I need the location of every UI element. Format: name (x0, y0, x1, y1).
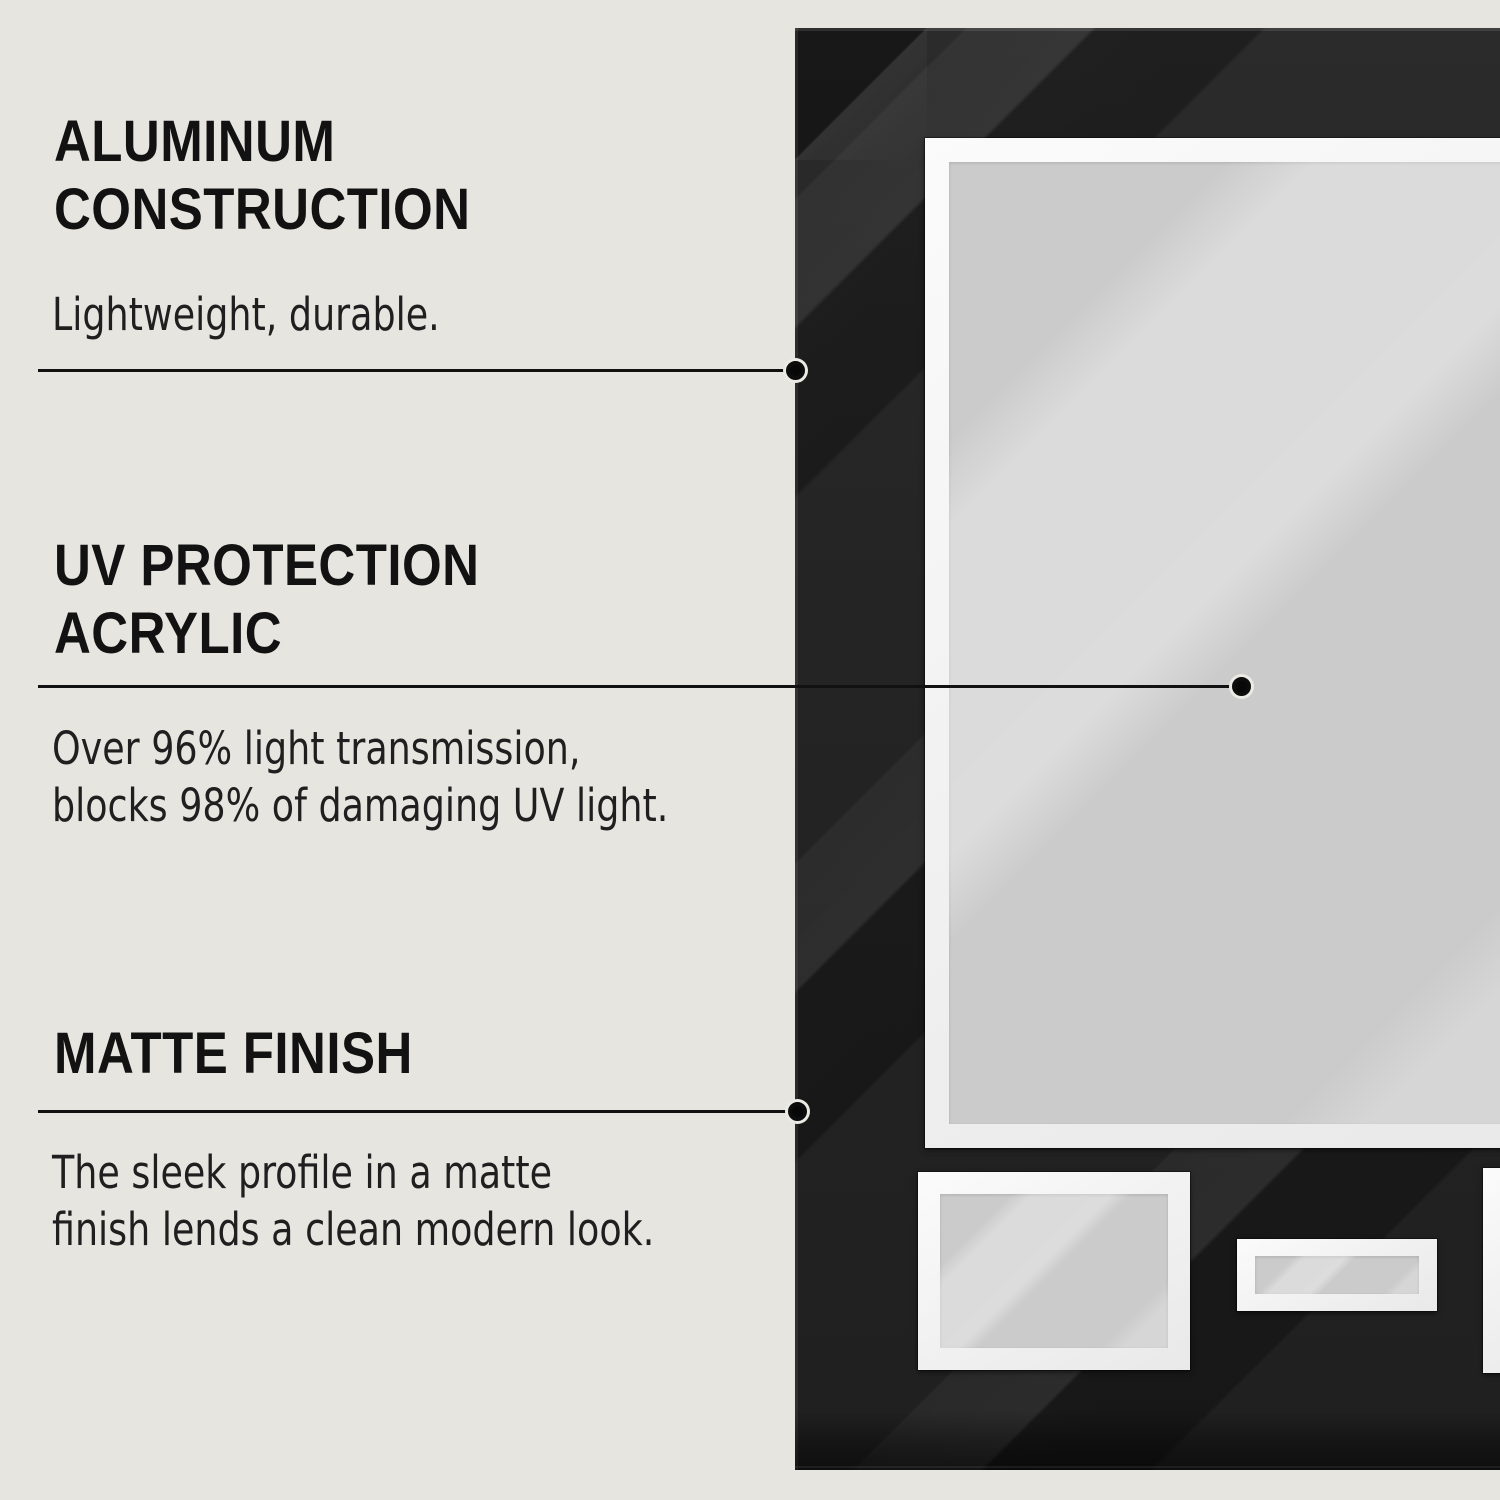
frame-left-edge-highlight (795, 28, 798, 1470)
nameplate-opening (1237, 1239, 1437, 1311)
frame-bottom-rail-shadow (795, 1410, 1500, 1470)
feature-leader-line (38, 685, 1243, 688)
feature-title: UV PROTECTION ACRYLIC (54, 532, 479, 668)
nameplate-glass (1255, 1256, 1419, 1294)
feature-leader-dot (788, 1102, 807, 1121)
feature-leader-line (38, 1110, 800, 1113)
infographic-stage: ALUMINUM CONSTRUCTION Lightweight, durab… (0, 0, 1500, 1500)
feature-leader-dot (1232, 677, 1251, 696)
feature-title: ALUMINUM CONSTRUCTION (54, 108, 470, 244)
small-photo-glass (940, 1194, 1168, 1348)
feature-leader-dot (786, 361, 805, 380)
right-photo-opening (1483, 1168, 1500, 1373)
product-frame-image (795, 28, 1500, 1470)
main-photo-opening (925, 138, 1500, 1148)
feature-leader-line (38, 369, 798, 372)
feature-description: Lightweight, durable. (52, 286, 440, 343)
frame-top-edge-highlight (795, 28, 1500, 31)
feature-description: Over 96% light transmission, blocks 98% … (52, 720, 668, 834)
frame-bottom-edge-highlight (795, 1466, 1500, 1468)
small-photo-opening (918, 1172, 1190, 1370)
main-photo-glass (949, 162, 1500, 1124)
feature-title: MATTE FINISH (54, 1020, 413, 1088)
frame-miter-joint-corner (795, 28, 927, 160)
right-photo-mat (1483, 1168, 1500, 1373)
feature-description: The sleek profile in a matte finish lend… (52, 1144, 654, 1258)
